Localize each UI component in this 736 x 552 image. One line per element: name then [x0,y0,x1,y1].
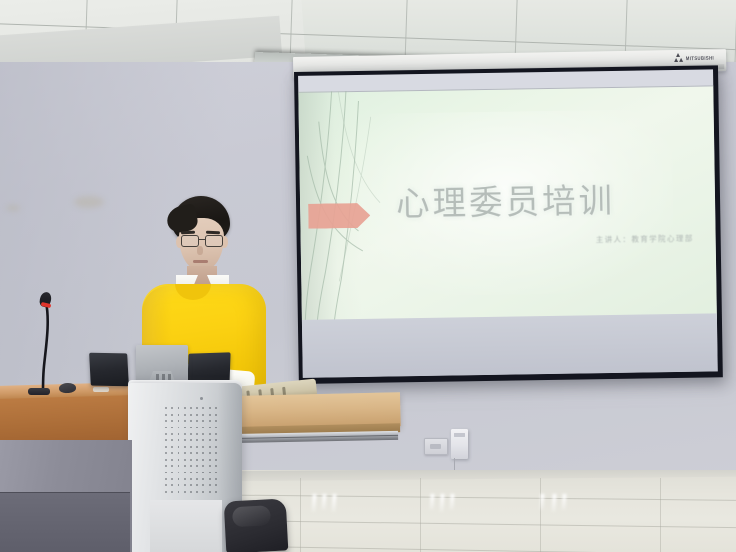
grille-hole [184,491,186,493]
grille-hole [178,439,180,441]
grille-hole [196,446,198,448]
grille-hole [165,484,167,486]
ceiling-light-reflection [331,494,336,512]
chair-highlight [232,505,271,527]
grille-hole [178,414,180,416]
ceiling-light-reflection [561,494,566,510]
grille-hole [202,478,204,480]
grille-hole [209,433,211,435]
grille-hole [196,459,198,461]
grille-hole [202,439,204,441]
grille-hole [215,420,217,422]
grille-hole [209,452,211,454]
grille-hole [178,484,180,486]
grille-hole [196,433,198,435]
podium-lower-body [150,500,222,552]
ac-brand: MITSUBISHI [674,53,714,62]
grille-hole [215,427,217,429]
grille-hole [215,478,217,480]
grille-hole [190,407,192,409]
grille-hole [190,420,192,422]
floor-tile-line-vertical [420,478,421,552]
presenter-mouth [193,260,208,263]
grille-hole [209,491,211,493]
grille-hole [209,446,211,448]
ceiling-light-reflection [539,494,544,510]
grille-hole [209,407,211,409]
ceiling-light-reflection [321,494,326,510]
grille-hole [196,414,198,416]
microphone-gooseneck [36,296,58,392]
ceiling-light-reflection [449,494,454,510]
grille-hole [202,472,204,474]
grille-hole [178,427,180,429]
grille-hole [165,465,167,467]
grille-hole [178,420,180,422]
grille-hole [165,446,167,448]
grille-hole [202,407,204,409]
grille-hole [184,420,186,422]
projection-screen-surface: 心理委员培训 主讲人：教育学院心理部 [298,69,718,377]
grille-hole [171,459,173,461]
grille-hole [190,439,192,441]
grille-hole [196,420,198,422]
presenter-nose [197,246,203,255]
grille-hole [215,459,217,461]
eyeglass-lens-left [181,235,199,247]
grille-hole [209,472,211,474]
grille-hole [202,459,204,461]
grille-hole [184,446,186,448]
grille-hole [215,414,217,416]
grille-hole [190,427,192,429]
grille-hole [184,472,186,474]
grille-hole [196,452,198,454]
grille-hole [184,407,186,409]
grille-hole [215,472,217,474]
grille-hole [184,478,186,480]
grille-hole [202,465,204,467]
grille-hole [215,484,217,486]
grille-hole [190,472,192,474]
grille-hole [202,491,204,493]
grille-hole [202,484,204,486]
grille-hole [209,484,211,486]
wall-smudge [74,196,104,208]
podium-side-panel-lower [0,492,130,552]
grille-hole [178,407,180,409]
eyeglass-lens-right [205,235,223,247]
grille-hole [190,484,192,486]
floor-tile-line-vertical [540,478,541,552]
ceiling-light-reflection [439,494,444,512]
grille-hole [209,465,211,467]
grille-hole [196,472,198,474]
grille-hole [196,439,198,441]
grille-hole [171,420,173,422]
ceiling-light-reflection [311,494,316,512]
grille-hole [190,433,192,435]
grille-hole [171,484,173,486]
grille-hole [184,433,186,435]
grille-hole [190,459,192,461]
grille-hole [165,478,167,480]
grille-hole [184,484,186,486]
grille-hole [209,420,211,422]
grille-hole [171,439,173,441]
grille-hole [171,446,173,448]
grille-hole [202,433,204,435]
classroom-photo: MITSUBISHI [0,0,736,552]
grille-hole [171,427,173,429]
microphone-base [28,388,50,395]
grille-hole [171,491,173,493]
grille-hole [171,407,173,409]
grille-hole [184,452,186,454]
grille-hole [215,491,217,493]
grille-hole [165,472,167,474]
ceiling-light-reflection [551,494,556,512]
grille-hole [165,439,167,441]
grille-hole [209,478,211,480]
grille-hole [171,414,173,416]
grille-hole [215,439,217,441]
grille-hole [196,478,198,480]
eyeglass-bridge [198,239,206,240]
grille-hole [202,427,204,429]
grille-hole [165,427,167,429]
grille-hole [165,452,167,454]
grille-hole [178,459,180,461]
screen-blank-area [302,313,718,378]
grille-hole [196,465,198,467]
slide-title: 心理委员培训 [396,172,697,226]
mitsubishi-logo-icon [674,54,683,62]
grille-hole [171,452,173,454]
grille-hole [215,433,217,435]
grille-hole [202,420,204,422]
grille-hole [196,484,198,486]
grille-hole [184,459,186,461]
eyeglasses-icon [180,235,223,245]
grille-hole [209,414,211,416]
podium-speaker-grille [163,405,219,495]
podium-status-led [200,397,203,400]
grille-hole [171,465,173,467]
grille-hole [190,491,192,493]
grille-hole [202,452,204,454]
grille-hole [215,465,217,467]
cable-clip [93,387,109,392]
grille-hole [196,491,198,493]
grille-hole [184,465,186,467]
grille-hole [178,452,180,454]
grille-hole [171,478,173,480]
grille-hole [209,439,211,441]
projection-screen-frame: 心理委员培训 主讲人：教育学院心理部 [294,65,723,384]
grille-hole [165,407,167,409]
grille-hole [184,414,186,416]
ac-brand-text: MITSUBISHI [686,54,714,61]
grille-hole [171,433,173,435]
projected-slide: 心理委员培训 主讲人：教育学院心理部 [298,85,717,325]
grille-hole [215,407,217,409]
grille-hole [165,420,167,422]
grille-hole [202,446,204,448]
monitor-left[interactable] [89,353,129,387]
floor-tile-line-vertical [300,478,301,552]
grille-hole [165,491,167,493]
grille-hole [178,465,180,467]
grille-hole [178,478,180,480]
grille-hole [209,427,211,429]
grille-hole [190,446,192,448]
grille-hole [165,459,167,461]
wall-smudge [6,205,20,211]
grille-hole [190,465,192,467]
wall-control-panel[interactable] [451,429,468,459]
grille-hole [178,433,180,435]
grille-hole [215,452,217,454]
grille-hole [190,478,192,480]
grille-hole [215,446,217,448]
power-outlet[interactable] [424,438,448,455]
chair[interactable] [224,498,289,552]
grille-hole [178,491,180,493]
grille-hole [196,427,198,429]
grille-hole [178,472,180,474]
grille-hole [165,414,167,416]
slide-subtitle: 主讲人：教育学院心理部 [596,233,694,246]
grille-hole [184,439,186,441]
ceiling-light-reflection [429,494,434,510]
grille-hole [171,472,173,474]
grille-hole [165,433,167,435]
grille-hole [202,414,204,416]
grille-hole [209,459,211,461]
grille-hole [190,452,192,454]
grille-hole [196,407,198,409]
floor-tile-line-vertical [660,478,661,552]
grille-hole [190,414,192,416]
grille-hole [178,446,180,448]
grille-hole [184,427,186,429]
